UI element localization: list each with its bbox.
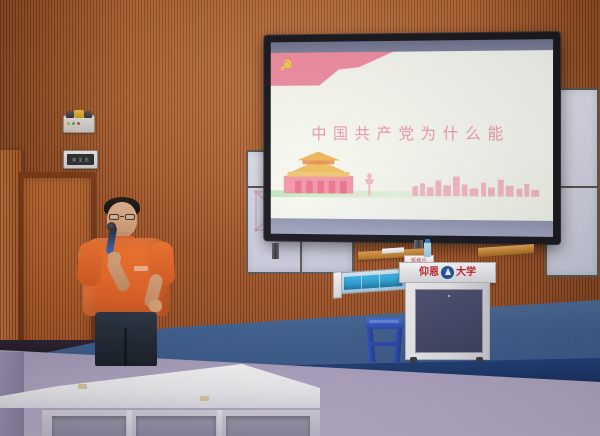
eyeglasses-icon <box>109 214 135 220</box>
lecture-hall-photo: 安 全 出 ☭ 中国共产党为什么能 <box>0 0 600 436</box>
podium-caster-right <box>476 357 483 363</box>
university-name-left: 仰恩 <box>419 268 439 278</box>
desk-divider <box>217 410 222 436</box>
drawer-front-panel <box>333 271 342 299</box>
party-emblem-icon: ☭ <box>278 59 294 75</box>
lectern-podium[interactable]: 仰恩 大学 <box>405 262 490 360</box>
beijing-skyline-illustration <box>271 166 549 197</box>
sleeve-left <box>76 241 103 287</box>
tshirt-logo <box>134 266 148 271</box>
emergency-light-icon <box>63 115 95 133</box>
desk-cubby <box>226 416 310 436</box>
presentation-slide: ☭ 中国共产党为什么能 <box>271 50 553 221</box>
blue-plastic-stool[interactable] <box>366 318 403 363</box>
exit-sign-char-2: 全 <box>78 158 82 162</box>
university-name-right: 大学 <box>456 268 476 278</box>
panel-indicator-icon <box>448 295 450 297</box>
speaker-person <box>78 196 174 368</box>
bottle-cap <box>425 239 430 243</box>
water-bottle <box>424 242 431 257</box>
podium-face-panel: 仰恩 大学 <box>399 262 496 283</box>
podium-control-panel[interactable] <box>415 289 483 353</box>
slide-title: 中国共产党为什么能 <box>271 120 553 144</box>
dark-pants <box>95 312 157 366</box>
university-emblem-icon <box>441 266 454 279</box>
podium-caster-left <box>410 357 417 363</box>
screen-mount-pole-secondary <box>272 243 279 259</box>
screen-bezel: ☭ 中国共产党为什么能 <box>264 32 560 244</box>
desk-cubby <box>52 416 126 436</box>
desk-divider <box>127 410 132 436</box>
desk-tape-mark <box>78 384 87 389</box>
desk-top-surface <box>0 364 320 408</box>
podium-body <box>405 282 490 360</box>
foreground-desk <box>0 364 320 436</box>
exit-sign-char-1: 安 <box>72 158 76 162</box>
desk-tape-mark <box>200 396 209 401</box>
stool-rail <box>370 342 399 346</box>
drawer-interior <box>344 273 402 290</box>
desk-cubby <box>136 416 216 436</box>
hand-left <box>108 252 121 264</box>
projection-screen: ☭ 中国共产党为什么能 <box>264 32 560 244</box>
exit-sign: 安 全 出 <box>63 150 98 169</box>
screen-canvas: ☭ 中国共产党为什么能 <box>271 39 553 237</box>
exit-sign-char-3: 出 <box>85 158 89 162</box>
university-logo: 仰恩 大学 <box>400 263 495 282</box>
hand-right <box>149 300 162 312</box>
slide-bottom-band <box>271 218 553 237</box>
microphone-head <box>107 222 116 231</box>
